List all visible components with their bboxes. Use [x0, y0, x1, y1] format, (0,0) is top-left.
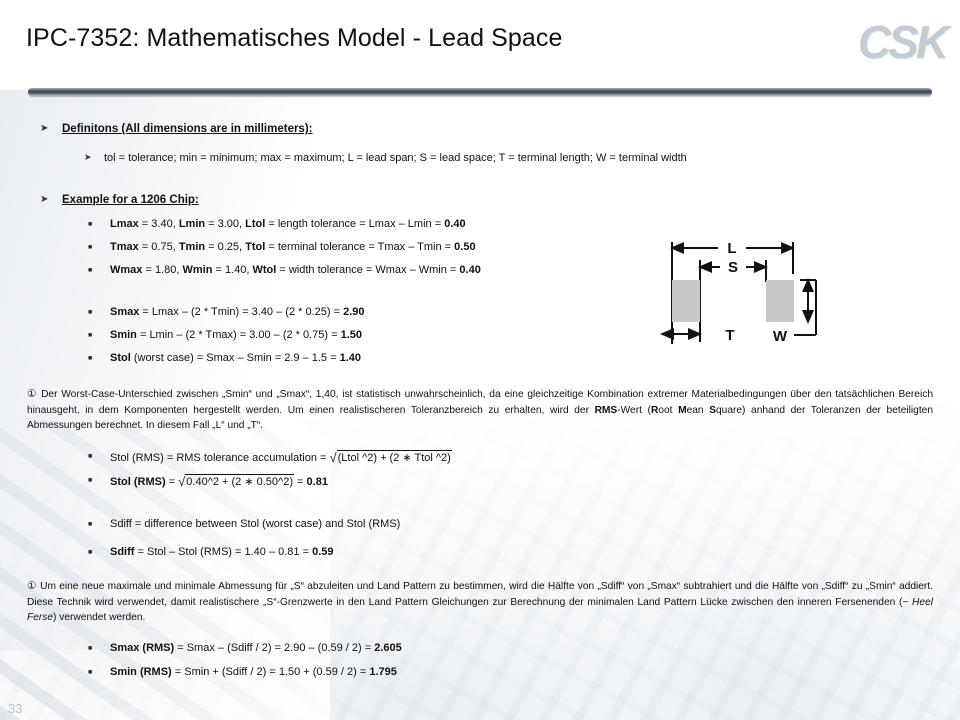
diagram-label-W: W: [773, 328, 788, 345]
page-number: 33: [8, 701, 22, 716]
example-row-lmax: ■ Lmax = 3.40, Lmin = 3.00, Ltol = lengt…: [110, 218, 466, 230]
sqrt-icon: √: [329, 450, 336, 465]
square-bullet-icon: ■: [88, 332, 92, 339]
square-bullet-icon: ■: [88, 645, 92, 652]
circled-one-icon: ①: [27, 388, 37, 400]
example-row-smax: ■ Smax = Lmax – (2 * Tmin) = 3.40 – (2 *…: [110, 306, 365, 318]
final-row-smin-rms: ■ Smin (RMS) = Smin + (Sdiff / 2) = 1.50…: [110, 666, 397, 678]
example-heading: ➤ Example for a 1206 Chip:: [62, 194, 199, 206]
square-bullet-icon: ■: [88, 453, 92, 460]
example-row-smin: ■ Smin = Lmin – (2 * Tmax) = 3.00 – (2 *…: [110, 329, 362, 341]
note-paragraph-1: ① Der Worst-Case-Unterschied zwischen „S…: [27, 387, 933, 434]
sqrt-icon: √: [178, 474, 185, 489]
example-row-tmax: ■ Tmax = 0.75, Tmin = 0.25, Ttol = termi…: [110, 241, 476, 253]
definitions-heading: ➤ Definitons (All dimensions are in mill…: [62, 123, 313, 135]
square-bullet-icon: ■: [88, 244, 92, 251]
example-row-wmax: ■ Wmax = 1.80, Wmin = 1.40, Wtol = width…: [110, 264, 481, 276]
square-bullet-icon: ■: [88, 477, 92, 484]
square-bullet-icon: ■: [88, 309, 92, 316]
square-bullet-icon: ■: [88, 549, 92, 556]
diagram-label-S: S: [728, 259, 738, 276]
circled-one-icon: ①: [27, 580, 37, 592]
diagram-label-T: T: [725, 327, 734, 344]
rms-row-value: ■ Stol (RMS) = √0.40^2 + (2 ∗ 0.50^2) = …: [110, 474, 328, 489]
final-row-smax-rms: ■ Smax (RMS) = Smax – (Sdiff / 2) = 2.90…: [110, 642, 402, 654]
square-bullet-icon: ■: [88, 521, 92, 528]
sdiff-row-value: ■ Sdiff = Stol – Stol (RMS) = 1.40 – 0.8…: [110, 546, 334, 558]
diagram-label-L: L: [727, 240, 736, 257]
note-paragraph-2: ① Um eine neue maximale und minimale Abm…: [27, 579, 933, 626]
arrow-bullet-icon: ➤: [84, 152, 92, 163]
arrow-bullet-icon: ➤: [40, 123, 48, 134]
arrow-bullet-icon: ➤: [40, 194, 48, 205]
slide-content: ➤ Definitons (All dimensions are in mill…: [0, 0, 960, 720]
example-row-stol: ■ Stol (worst case) = Smax – Smin = 2.9 …: [110, 352, 361, 364]
square-bullet-icon: ■: [88, 221, 92, 228]
square-bullet-icon: ■: [88, 355, 92, 362]
definitions-line: ➤ tol = tolerance; min = minimum; max = …: [104, 152, 687, 164]
chip-dimension-diagram: L S T W: [640, 222, 880, 372]
sdiff-row-definition: ■ Sdiff = difference between Stol (worst…: [110, 518, 400, 530]
rms-row-definition: ■ Stol (RMS) = RMS tolerance accumulatio…: [110, 450, 452, 465]
square-bullet-icon: ■: [88, 669, 92, 676]
square-bullet-icon: ■: [88, 267, 92, 274]
